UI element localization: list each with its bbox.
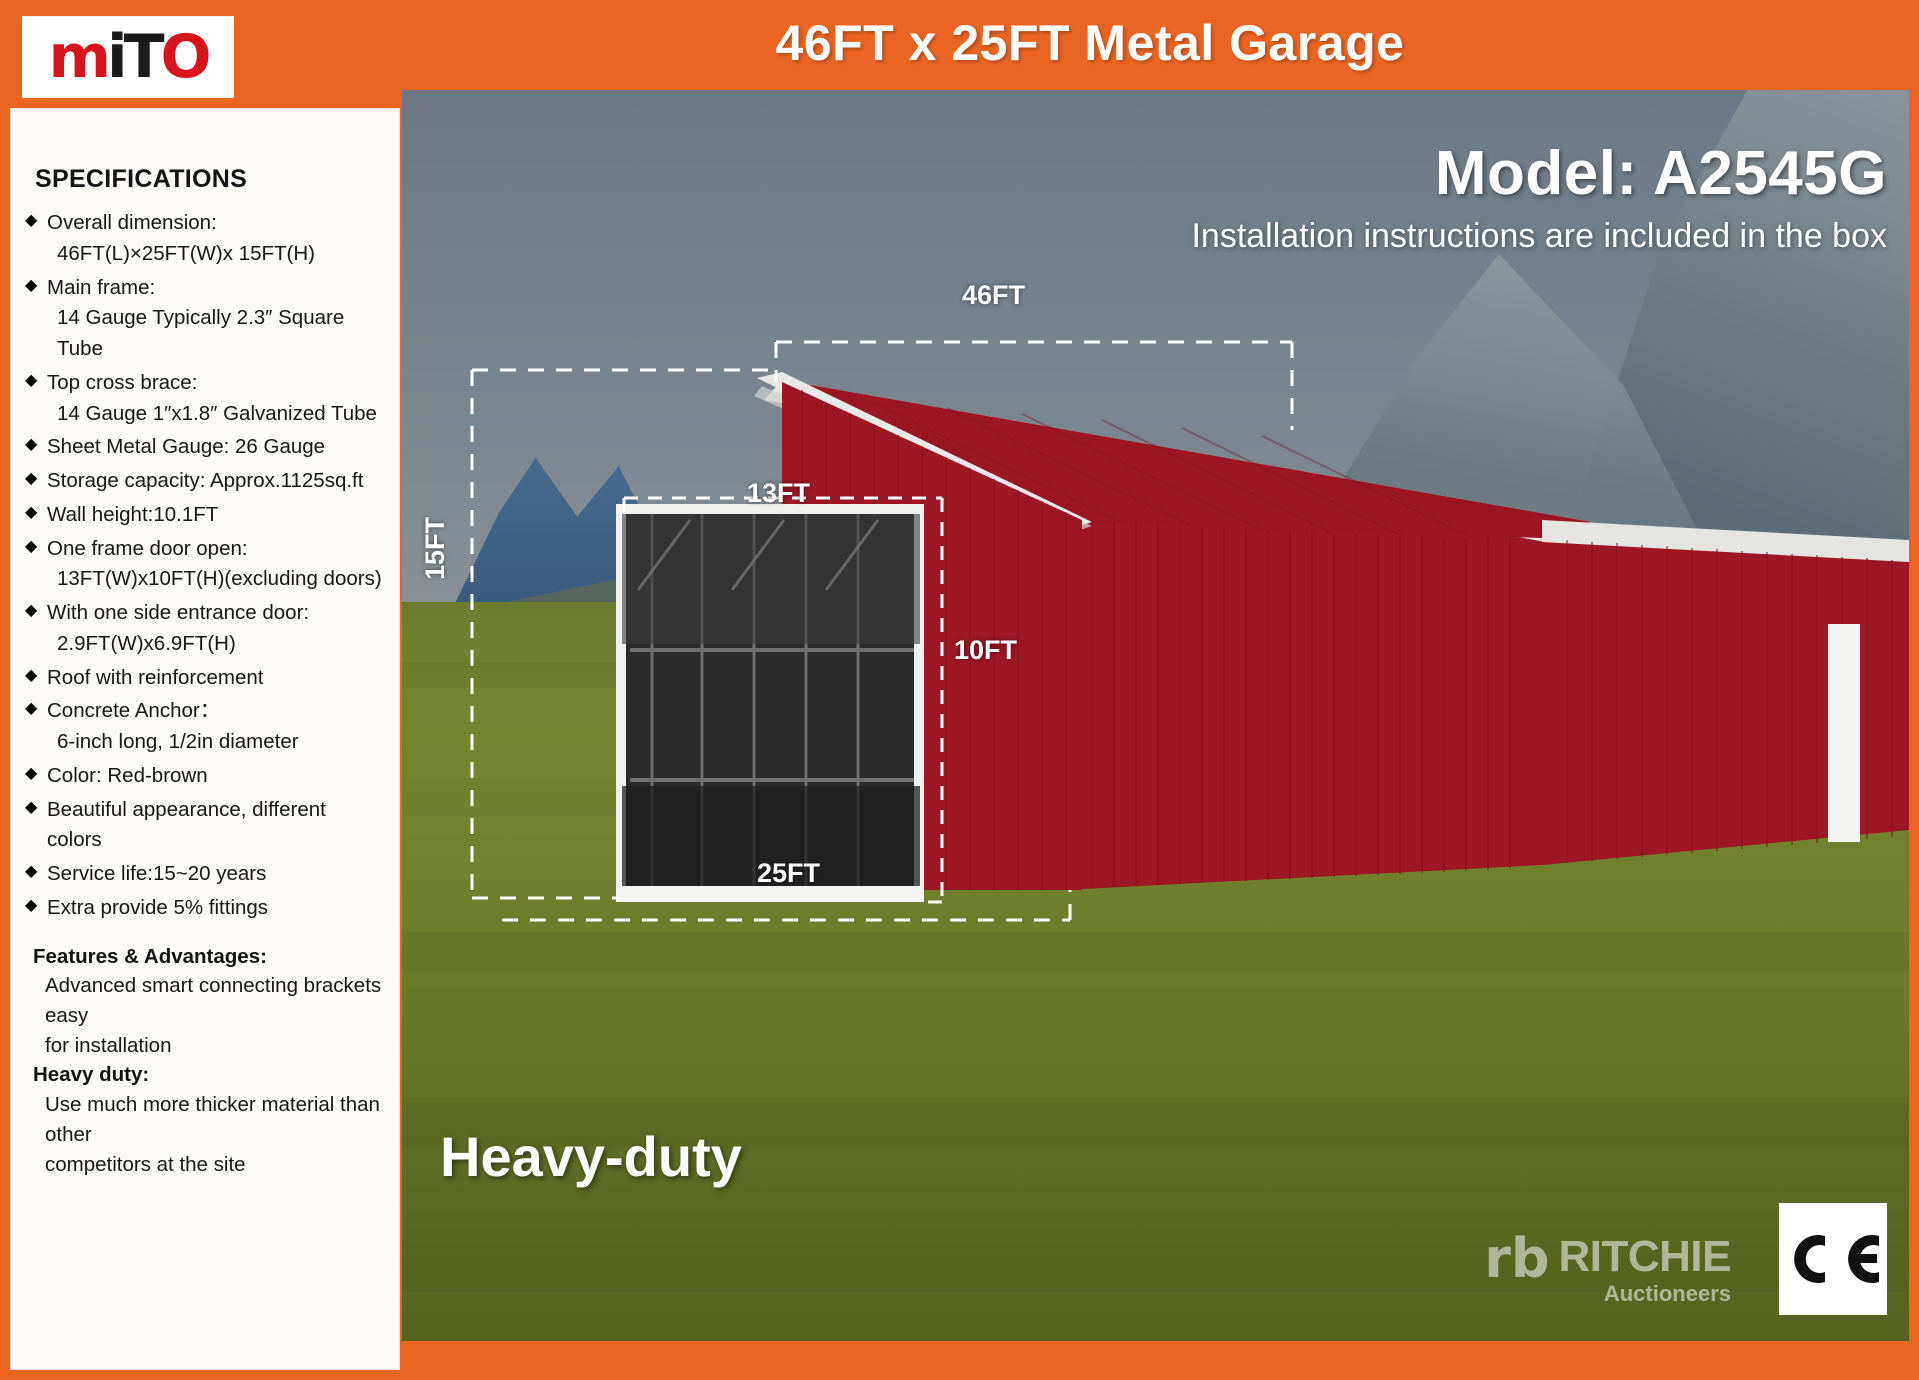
spec-item-row: ◆Overall dimension:	[25, 208, 385, 239]
spec-item-label: With one side entrance door:	[47, 598, 309, 629]
model-info: Model: A2545G Installation instructions …	[887, 138, 1887, 256]
watermark-auctioneers: Auctioneers	[1559, 1281, 1732, 1307]
dimension-label-width: 25FT	[757, 858, 820, 889]
spec-item-sub: 2.9FT(W)x6.9FT(H)	[25, 629, 385, 660]
spec-item: ◆Wall height:10.1FT	[25, 500, 385, 531]
spec-item: ◆Service life:15~20 years	[25, 859, 385, 890]
spec-item-row: ◆One frame door open:	[25, 534, 385, 565]
logo-letter-it: iT	[107, 22, 161, 92]
spec-item-row: ◆Roof with reinforcement	[25, 663, 385, 694]
watermark-names: RITCHIE Auctioneers	[1559, 1235, 1732, 1307]
heavy-duty-heading: Heavy duty:	[33, 1060, 385, 1090]
logo-letter-o: O	[161, 22, 208, 92]
spec-item: ◆Concrete Anchor：6-inch long, 1/2in diam…	[25, 696, 385, 758]
diamond-bullet-icon: ◆	[25, 598, 47, 624]
product-photo: 46FT 15FT 13FT 10FT 25FT Model: A2545G I…	[402, 90, 1909, 1341]
spec-item-row: ◆Sheet Metal Gauge: 26 Gauge	[25, 432, 385, 463]
spec-item: ◆With one side entrance door:2.9FT(W)x6.…	[25, 598, 385, 660]
specifications-panel: SPECIFICATIONS ◆Overall dimension:46FT(L…	[10, 108, 400, 1370]
spec-item-label: Concrete Anchor：	[47, 696, 220, 727]
spec-item-sub: 14 Gauge 1″x1.8″ Galvanized Tube	[25, 399, 385, 430]
spec-item-label: Top cross brace:	[47, 368, 197, 399]
spec-item: ◆Overall dimension:46FT(L)×25FT(W)x 15FT…	[25, 208, 385, 270]
spec-item-label: Sheet Metal Gauge: 26 Gauge	[47, 432, 325, 463]
diamond-bullet-icon: ◆	[25, 500, 47, 526]
diamond-bullet-icon: ◆	[25, 663, 47, 689]
ce-mark-badge	[1779, 1203, 1887, 1315]
diamond-bullet-icon: ◆	[25, 534, 47, 560]
diamond-bullet-icon: ◆	[25, 432, 47, 458]
spec-item-row: ◆Color: Red-brown	[25, 761, 385, 792]
diamond-bullet-icon: ◆	[25, 273, 47, 299]
spec-item-row: ◆Beautiful appearance, different colors	[25, 795, 385, 857]
logo-letter-m: m	[48, 22, 107, 92]
diamond-bullet-icon: ◆	[25, 208, 47, 234]
spec-item: ◆Color: Red-brown	[25, 761, 385, 792]
diamond-bullet-icon: ◆	[25, 696, 47, 722]
spec-item: ◆Main frame:14 Gauge Typically 2.3″ Squa…	[25, 273, 385, 365]
product-spec-sheet: miTO 46FT x 25FT Metal Garage SPECIFICAT…	[0, 0, 1919, 1380]
spec-item: ◆Extra provide 5% fittings	[25, 893, 385, 924]
spec-item-label: Extra provide 5% fittings	[47, 893, 268, 924]
diamond-bullet-icon: ◆	[25, 859, 47, 885]
ce-mark-icon	[1783, 1228, 1883, 1290]
spec-item-row: ◆Wall height:10.1FT	[25, 500, 385, 531]
spec-item-label: Beautiful appearance, different colors	[47, 795, 385, 857]
model-number: Model: A2545G	[887, 138, 1887, 209]
diamond-bullet-icon: ◆	[25, 368, 47, 394]
heavy-duty-line-2: competitors at the site	[33, 1150, 385, 1180]
specifications-heading: SPECIFICATIONS	[25, 165, 385, 194]
side-entrance-door	[1828, 624, 1860, 842]
spec-item-label: Service life:15~20 years	[47, 859, 266, 890]
spec-item-label: Roof with reinforcement	[47, 663, 263, 694]
spec-item-row: ◆Top cross brace:	[25, 368, 385, 399]
diamond-bullet-icon: ◆	[25, 893, 47, 919]
watermark-ritchie: RITCHIE	[1559, 1235, 1732, 1279]
spec-item: ◆Top cross brace:14 Gauge 1″x1.8″ Galvan…	[25, 368, 385, 430]
spec-item-label: Overall dimension:	[47, 208, 217, 239]
spec-item-row: ◆Extra provide 5% fittings	[25, 893, 385, 924]
spec-item: ◆Sheet Metal Gauge: 26 Gauge	[25, 432, 385, 463]
diamond-bullet-icon: ◆	[25, 795, 47, 821]
spec-item: ◆Beautiful appearance, different colors	[25, 795, 385, 857]
spec-item-sub: 6-inch long, 1/2in diameter	[25, 727, 385, 758]
door-panel-upper	[622, 514, 920, 644]
installation-note: Installation instructions are included i…	[887, 217, 1887, 256]
heavy-duty-line-1: Use much more thicker material than othe…	[33, 1090, 385, 1149]
features-section: Features & Advantages: Advanced smart co…	[25, 942, 385, 1180]
heavy-duty-overlay: Heavy-duty	[440, 1124, 742, 1189]
spec-item-row: ◆Storage capacity: Approx.1125sq.ft	[25, 466, 385, 497]
spec-item-sub: 13FT(W)x10FT(H)(excluding doors)	[25, 564, 385, 595]
spec-item-label: Color: Red-brown	[47, 761, 208, 792]
specifications-list: ◆Overall dimension:46FT(L)×25FT(W)x 15FT…	[25, 208, 385, 924]
spec-item-label: Main frame:	[47, 273, 155, 304]
dimension-label-length: 46FT	[962, 280, 1025, 311]
spec-item-row: ◆Service life:15~20 years	[25, 859, 385, 890]
spec-item-label: One frame door open:	[47, 534, 248, 565]
features-line-1: Advanced smart connecting brackets easy	[33, 971, 385, 1030]
ritchie-watermark: rb RITCHIE Auctioneers	[1484, 1235, 1731, 1307]
spec-item-sub: 14 Gauge Typically 2.3″ Square Tube	[25, 303, 385, 365]
brand-logo-text: miTO	[48, 29, 207, 86]
spec-item-row: ◆Main frame:	[25, 273, 385, 304]
spec-item-sub: 46FT(L)×25FT(W)x 15FT(H)	[25, 239, 385, 270]
spec-item: ◆Roof with reinforcement	[25, 663, 385, 694]
spec-item: ◆One frame door open:13FT(W)x10FT(H)(exc…	[25, 534, 385, 596]
features-line-2: for installation	[33, 1031, 385, 1061]
spec-item-row: ◆Concrete Anchor：	[25, 696, 385, 727]
spec-item-row: ◆With one side entrance door:	[25, 598, 385, 629]
dimension-label-door-width: 13FT	[747, 478, 810, 509]
brand-logo: miTO	[22, 16, 234, 98]
dimension-label-height: 15FT	[420, 517, 451, 580]
diamond-bullet-icon: ◆	[25, 466, 47, 492]
diamond-bullet-icon: ◆	[25, 761, 47, 787]
spec-item-label: Wall height:10.1FT	[47, 500, 218, 531]
features-heading: Features & Advantages:	[33, 942, 385, 972]
spec-item: ◆Storage capacity: Approx.1125sq.ft	[25, 466, 385, 497]
page-title: 46FT x 25FT Metal Garage	[400, 14, 1780, 72]
rb-logo-icon: rb	[1484, 1235, 1549, 1284]
dimension-label-door-height: 10FT	[954, 635, 1017, 666]
spec-item-label: Storage capacity: Approx.1125sq.ft	[47, 466, 363, 497]
